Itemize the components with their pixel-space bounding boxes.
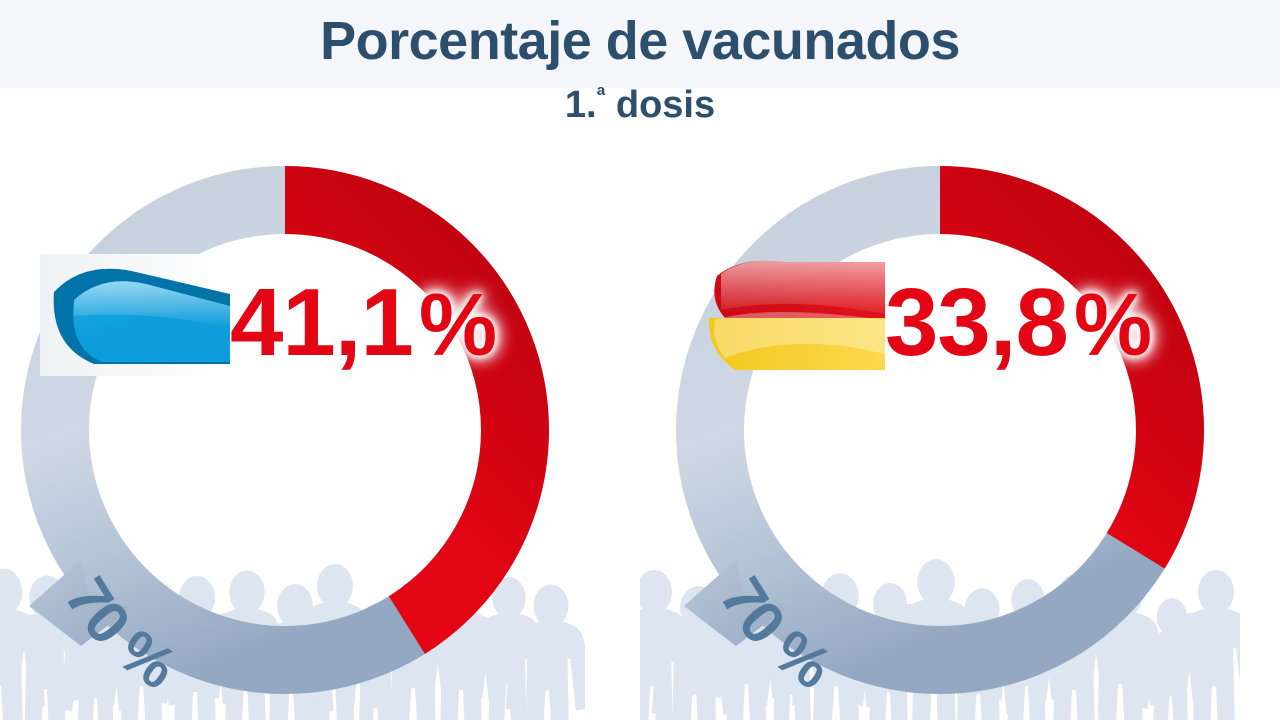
donut-chart-germany: 70 % [640, 130, 1240, 720]
subtitle-ordinal: ª [597, 82, 606, 108]
subtitle-rest: dosis [605, 84, 715, 126]
infographic-root: Porcentaje de vacunados 1.ª dosis [0, 0, 1280, 720]
donut-chart-bavaria: 70 % [0, 130, 585, 720]
page-title: Porcentaje de vacunados [0, 14, 1280, 68]
donut-ring-germany: 70 % [640, 130, 1240, 720]
donut-ring-bavaria: 70 % [0, 130, 585, 720]
subtitle-number: 1. [565, 84, 597, 126]
charts-container: 70 % [0, 130, 1280, 720]
page-subtitle: 1.ª dosis [0, 86, 1280, 124]
germany-flag-icon [695, 254, 885, 376]
bavaria-flag-icon [40, 254, 230, 376]
